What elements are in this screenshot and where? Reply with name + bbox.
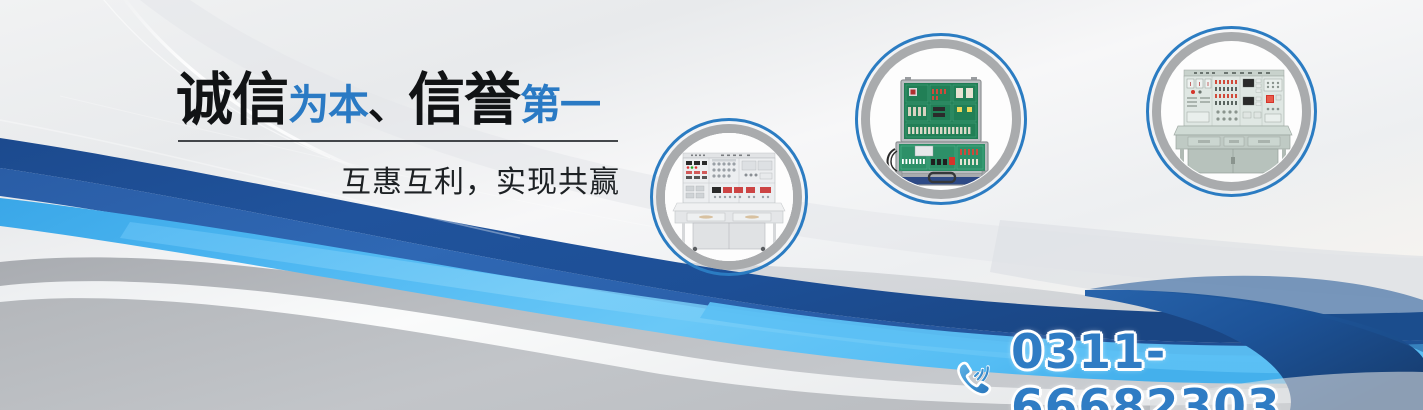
headline-part-1: 诚信: [176, 67, 288, 133]
product-1-image: [665, 133, 793, 261]
product-2-image: [871, 49, 1011, 189]
subheadline: 互惠互利，实现共赢: [176, 157, 620, 201]
headline-part-2: 信誉: [408, 67, 520, 133]
phone-number[interactable]: 0311-66682303: [1011, 325, 1423, 410]
headline-divider-rule: [178, 140, 618, 142]
headline-accent-2: 第一: [520, 81, 600, 129]
promotional-banner: 诚信为本、信誉第一 互惠互利，实现共赢: [0, 0, 1423, 410]
headline-separator: 、: [368, 81, 408, 129]
phone-with-signal-waves-icon: [952, 355, 998, 406]
contact-phone-block[interactable]: 0311-66682303: [952, 325, 1423, 410]
product-circle-2[interactable]: [855, 33, 1027, 205]
headline-accent-1: 为本: [288, 81, 368, 129]
slogan-text-block: 诚信为本、信誉第一 互惠互利，实现共赢: [176, 72, 636, 201]
product-circle-1[interactable]: [650, 118, 808, 276]
headline: 诚信为本、信誉第一: [176, 72, 636, 129]
product-3-image: [1162, 42, 1301, 181]
product-circle-3[interactable]: [1146, 26, 1317, 197]
